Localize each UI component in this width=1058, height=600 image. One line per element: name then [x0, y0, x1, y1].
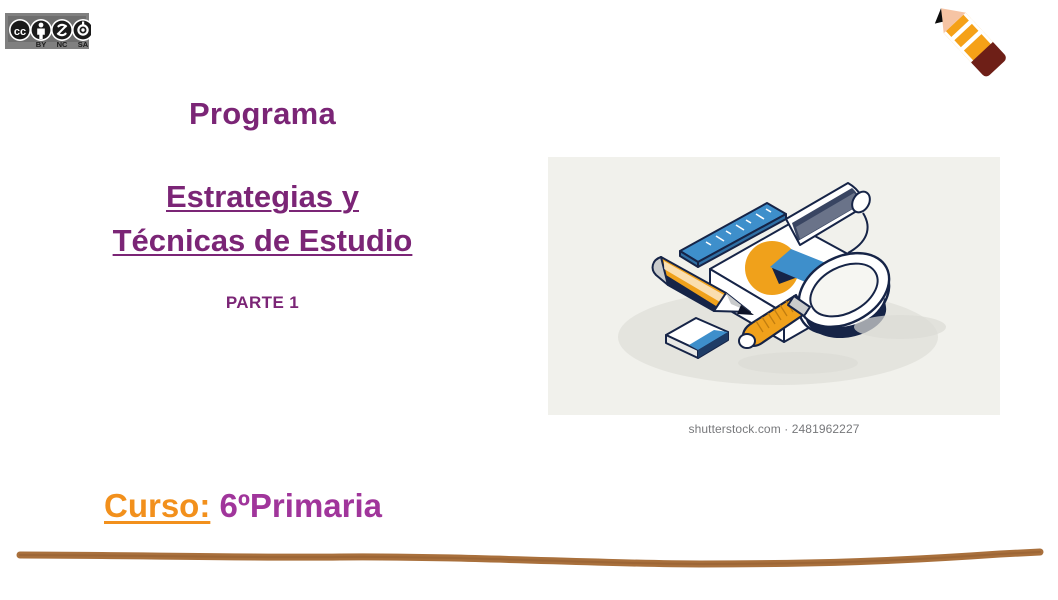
study-supplies-illustration — [548, 157, 1000, 415]
brush-stroke-divider-icon — [0, 528, 1058, 595]
license-term-nc: NC — [57, 40, 68, 49]
svg-text:cc: cc — [14, 26, 26, 38]
brush-stroke-divider-graphic — [0, 528, 1058, 595]
course-subject-line-1: Estrategias y — [0, 175, 525, 219]
study-supplies-illustration-graphic — [548, 157, 1000, 415]
course-level-value: 6ºPrimaria — [220, 487, 383, 524]
pencil-icon — [916, 5, 1020, 87]
title-block: Programa Estrategias y Técnicas de Estud… — [0, 97, 525, 313]
license-term-by: BY — [36, 40, 46, 49]
page-title: Programa — [0, 97, 525, 131]
stock-watermark: shutterstock.com · 2481962227 — [548, 422, 1000, 436]
creative-commons-badge-icon: cc BY NC SA — [3, 11, 91, 51]
pencil-icon-graphic — [916, 5, 1020, 87]
creative-commons-license-badge: cc BY NC SA — [3, 11, 91, 51]
license-term-sa: SA — [78, 40, 89, 49]
part-label: PARTE 1 — [0, 293, 525, 313]
course-level-line: Curso: 6ºPrimaria — [104, 487, 382, 525]
course-level-label: Curso: — [104, 487, 210, 524]
course-subject-title: Estrategias y Técnicas de Estudio — [0, 175, 525, 263]
course-subject-line-2: Técnicas de Estudio — [0, 219, 525, 263]
